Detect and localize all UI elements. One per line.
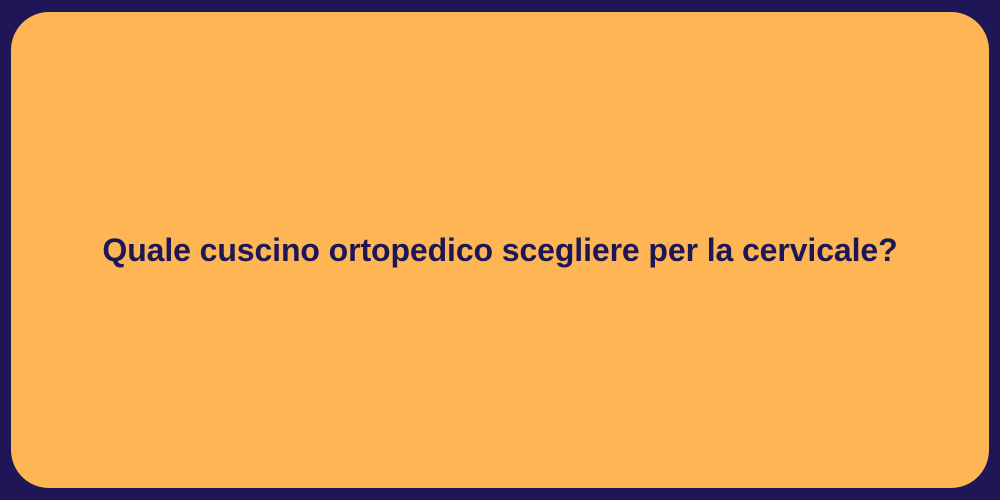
page-frame: Quale cuscino ortopedico scegliere per l… (0, 0, 1000, 500)
hero-card: Quale cuscino ortopedico scegliere per l… (11, 12, 989, 488)
page-title: Quale cuscino ortopedico scegliere per l… (102, 230, 897, 270)
